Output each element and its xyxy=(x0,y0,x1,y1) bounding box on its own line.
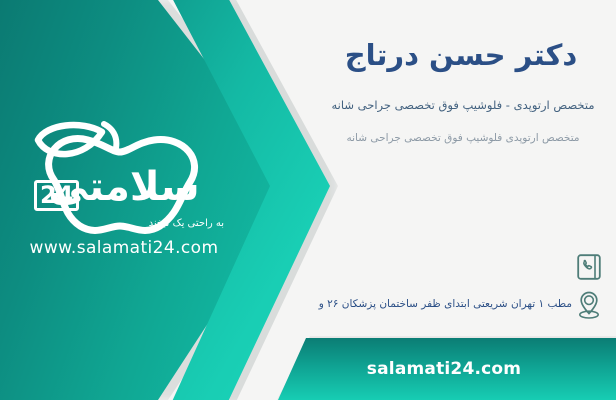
page-title: دکتر حسن درتاج xyxy=(330,37,592,73)
doctor-profile-banner: سلامتی 24 به راحتی یک لبخند www.salamati… xyxy=(0,0,616,400)
contact-phone-row[interactable] xyxy=(564,250,606,284)
footer-website-link[interactable]: salamati24.com xyxy=(367,359,521,379)
brand-slogan: به راحتی یک لبخند xyxy=(104,218,224,229)
doctor-specialty-secondary: متخصص ارتوپدی فلوشیپ فوق تخصصی جراحی شان… xyxy=(324,132,602,144)
brand-24-badge: 24 xyxy=(34,180,79,211)
brand-logo: سلامتی 24 به راحتی یک لبخند www.salamati… xyxy=(8,118,240,278)
location-pin-icon xyxy=(572,288,606,322)
contact-address-row[interactable]: مطب ۱ تهران شریعتی ابتدای ظفر ساختمان پز… xyxy=(311,288,606,322)
brand-website-url: www.salamati24.com xyxy=(8,238,240,258)
contact-address-text: مطب ۱ تهران شریعتی ابتدای ظفر ساختمان پز… xyxy=(311,298,572,312)
doctor-specialty-primary: متخصص ارتوپدی - فلوشیپ فوق تخصصی جراحی ش… xyxy=(324,98,602,112)
phone-book-icon xyxy=(572,250,606,284)
footer-bar: salamati24.com xyxy=(278,338,616,400)
